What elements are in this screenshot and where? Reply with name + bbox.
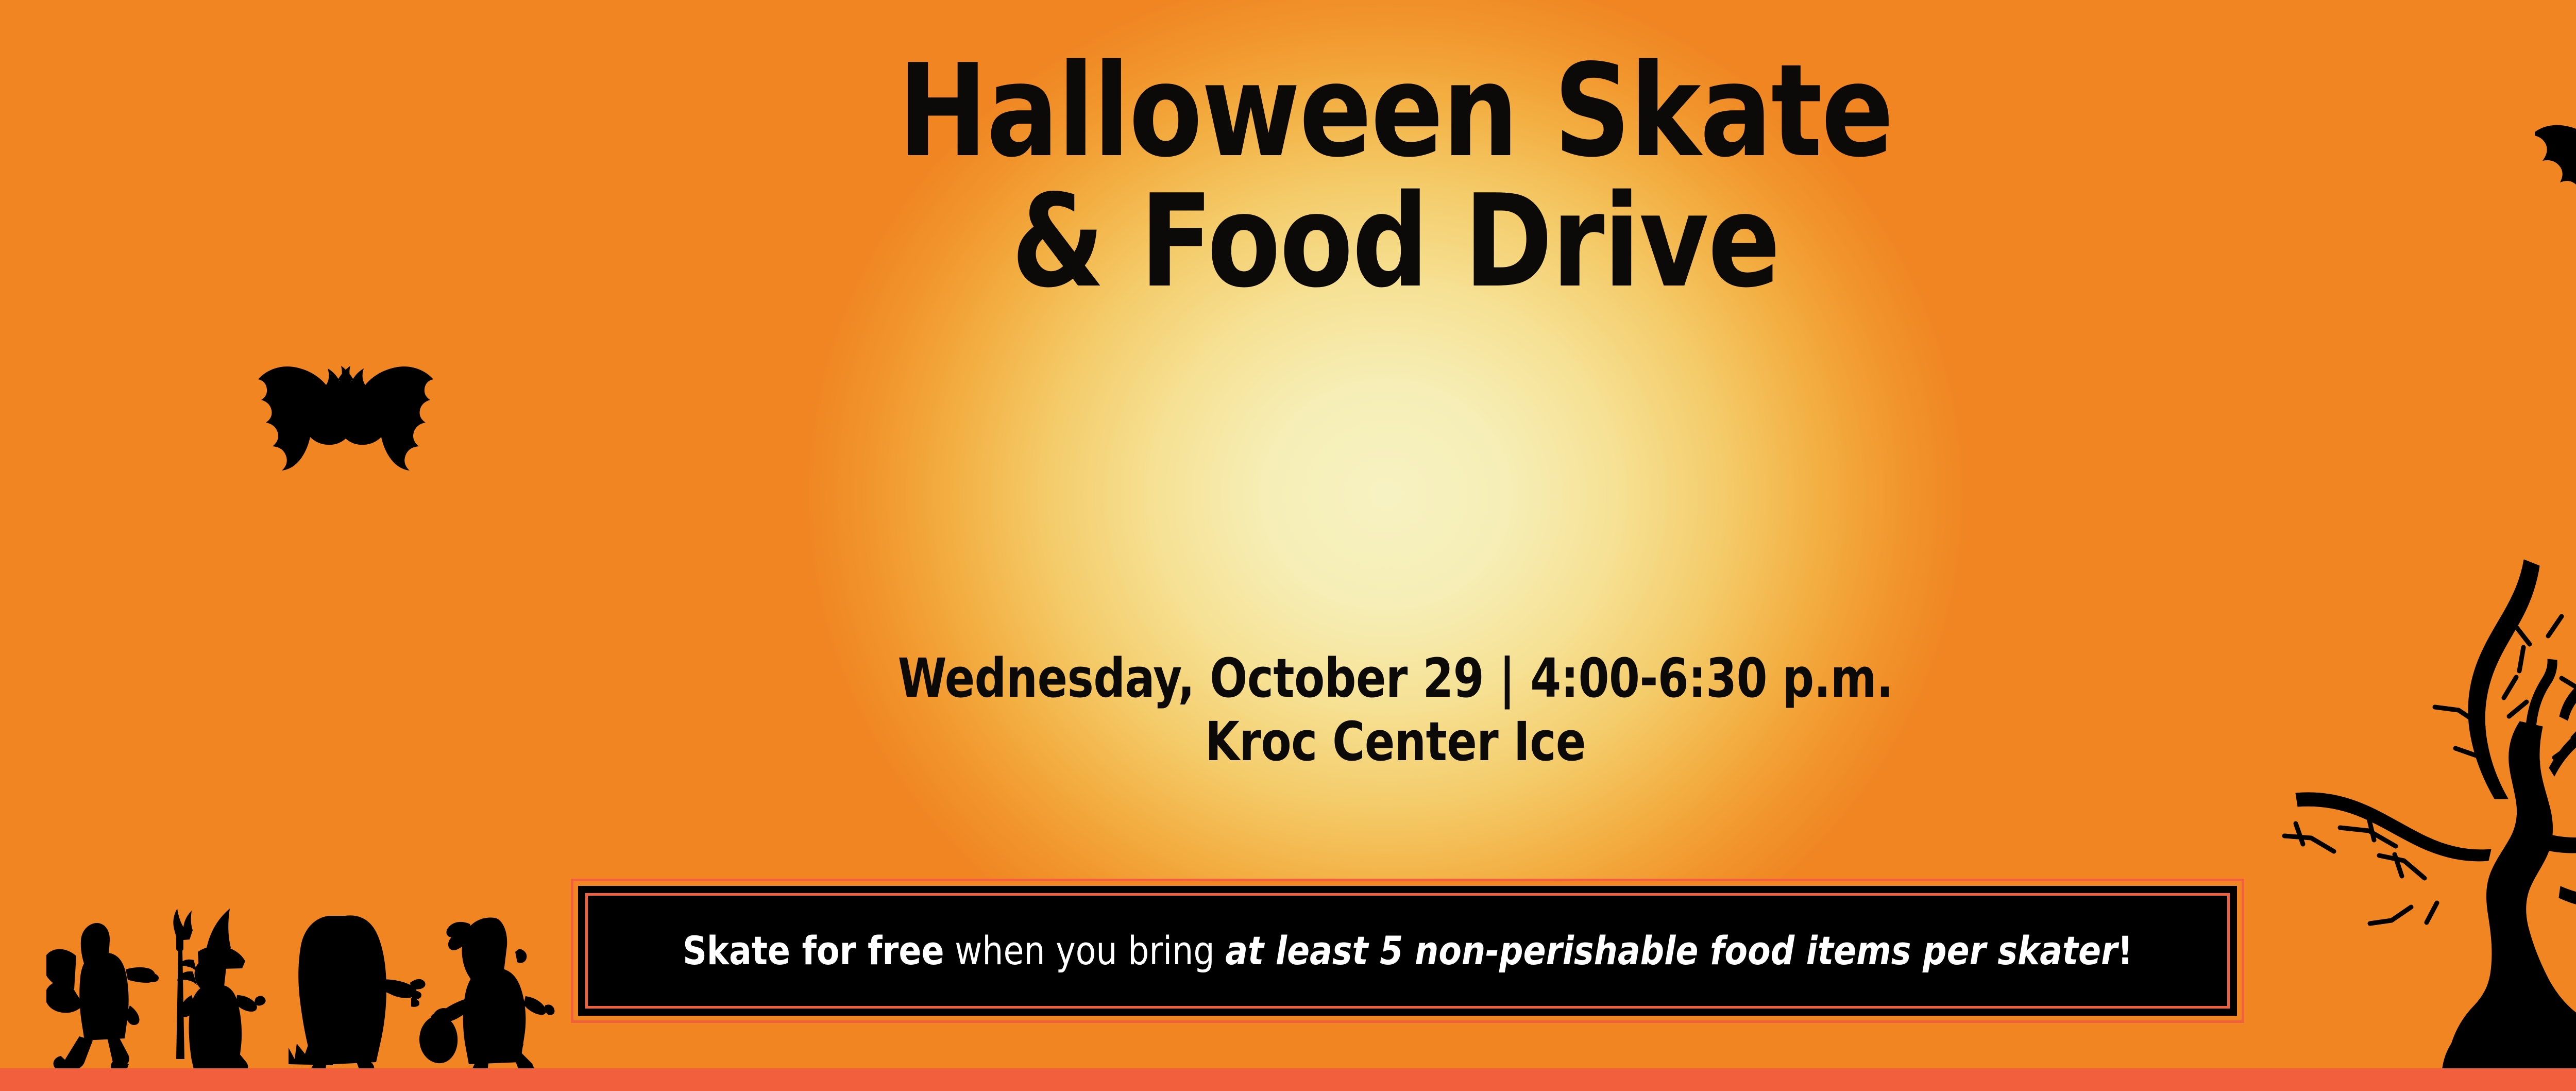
cta-text: Skate for free when you bring at least 5… [683,931,2133,970]
trick-or-treaters-icon [46,904,592,1075]
bat-right-icon [2535,98,2576,263]
bottom-strip [0,1068,2576,1091]
spooky-tree-icon [2241,356,2576,1072]
bat-left-icon [242,340,433,479]
cta-bold-italic-tail: at least 5 non-perishable food items per… [1225,928,2117,973]
halloween-event-banner: Halloween Skate & Food Drive Wednesday, … [0,0,2576,1091]
cta-regular-mid: when you bring [944,928,1225,973]
cta-bold-lead: Skate for free [683,928,944,973]
cta-panel-inner: Skate for free when you bring at least 5… [585,893,2230,1009]
cta-exclamation: ! [2117,928,2133,973]
cta-panel: Skate for free when you bring at least 5… [571,879,2244,1023]
cta-panel-black-band: Skate for free when you bring at least 5… [578,886,2237,1016]
